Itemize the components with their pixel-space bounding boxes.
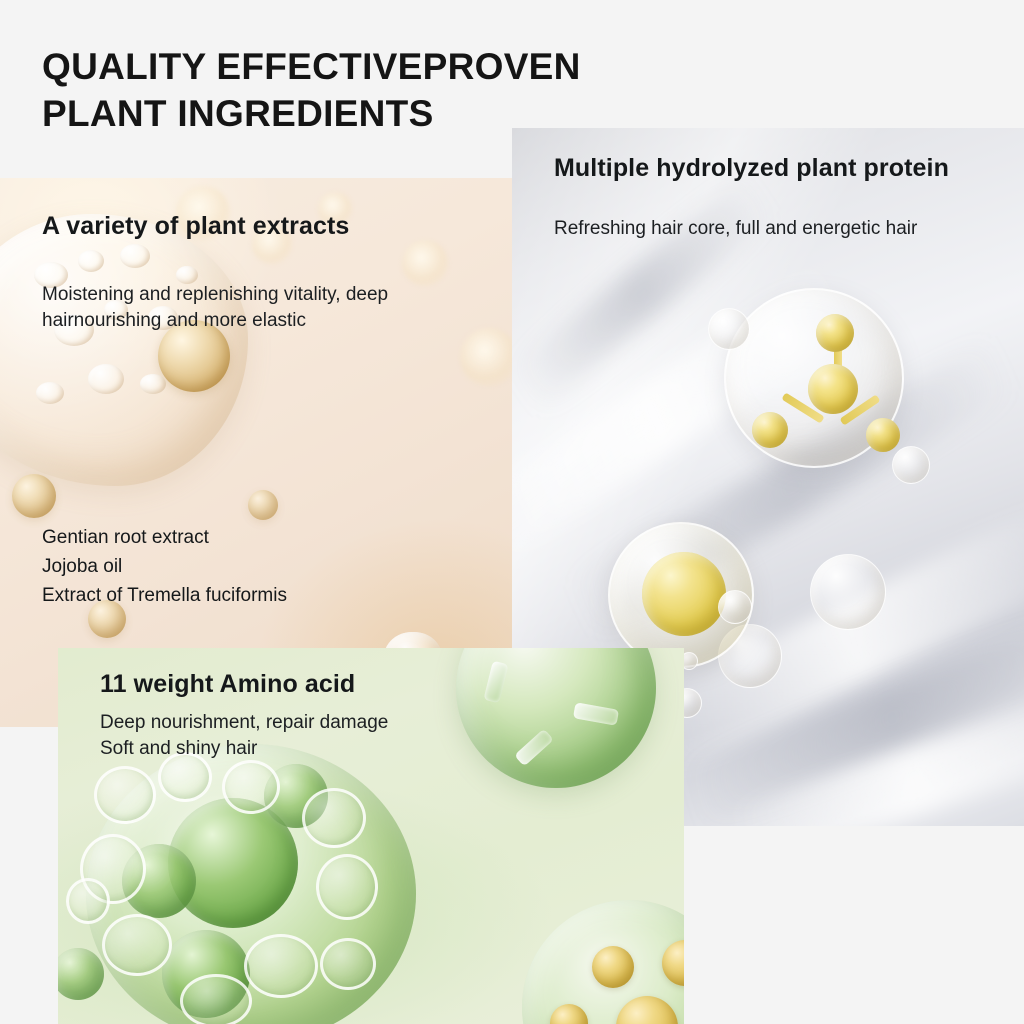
gel-cell-icon (222, 760, 280, 814)
clear-bubble-icon (718, 590, 752, 624)
extracts-description-line-2: hairnourishing and more elastic (42, 308, 462, 334)
amino-heading: 11 weight Amino acid (100, 670, 355, 699)
extracts-heading: A variety of plant extracts (42, 212, 349, 241)
list-item: Gentian root extract (42, 524, 287, 553)
amino-description-line-1: Deep nourishment, repair damage (100, 710, 520, 736)
molecule-atom-icon (752, 412, 788, 448)
bokeh-light-icon (402, 240, 448, 286)
panel-plant-extracts: A variety of plant extracts Moistening a… (0, 178, 512, 727)
page-title: QUALITY EFFECTIVEPROVEN PLANT INGREDIENT… (42, 44, 682, 137)
oil-core-decoration (642, 552, 726, 636)
micro-bubble-icon (36, 382, 64, 404)
gel-cell-icon (180, 974, 252, 1024)
protein-title: Multiple hydrolyzed plant protein (554, 154, 949, 183)
gold-droplet-icon (592, 946, 634, 988)
molecule-atom-icon (808, 364, 858, 414)
gel-cell-icon (244, 934, 318, 998)
list-item: Jojoba oil (42, 553, 287, 582)
gel-cell-icon (66, 878, 110, 924)
bokeh-light-icon (460, 328, 512, 386)
molecule-atom-icon (866, 418, 900, 452)
clear-bubble-icon (810, 554, 886, 630)
list-item: Extract of Tremella fuciformis (42, 582, 287, 611)
amino-description: Deep nourishment, repair damage Soft and… (100, 710, 520, 762)
panel-amino-acid: 11 weight Amino acid Deep nourishment, r… (58, 648, 684, 1024)
extracts-title: A variety of plant extracts (42, 212, 349, 241)
clear-bubble-icon (708, 308, 750, 350)
gold-droplet-icon (248, 490, 278, 520)
molecule-atom-icon (816, 314, 854, 352)
clear-bubble-icon (892, 446, 930, 484)
gel-cell-icon (94, 766, 156, 824)
protein-description-text: Refreshing hair core, full and energetic… (554, 216, 1004, 242)
gel-cell-icon (320, 938, 376, 990)
micro-bubble-icon (140, 374, 166, 394)
extracts-description: Moistening and replenishing vitality, de… (42, 282, 462, 334)
gel-cell-icon (316, 854, 378, 920)
page-title-line-2: PLANT INGREDIENTS (42, 91, 682, 138)
amino-description-line-2: Soft and shiny hair (100, 736, 520, 762)
amino-title: 11 weight Amino acid (100, 670, 355, 699)
gel-cell-icon (102, 914, 172, 976)
green-orb-icon (58, 948, 104, 1000)
protein-description: Refreshing hair core, full and energetic… (554, 216, 1004, 242)
gold-droplet-icon (12, 474, 56, 518)
protein-heading: Multiple hydrolyzed plant protein (554, 154, 949, 183)
micro-bubble-icon (88, 364, 124, 394)
micro-bubble-icon (120, 244, 150, 268)
extracts-description-line-1: Moistening and replenishing vitality, de… (42, 282, 462, 308)
gel-cell-icon (302, 788, 366, 848)
extracts-ingredient-list: Gentian root extract Jojoba oil Extract … (42, 524, 287, 611)
page-title-line-1: QUALITY EFFECTIVEPROVEN (42, 44, 682, 91)
micro-bubble-icon (78, 250, 104, 272)
